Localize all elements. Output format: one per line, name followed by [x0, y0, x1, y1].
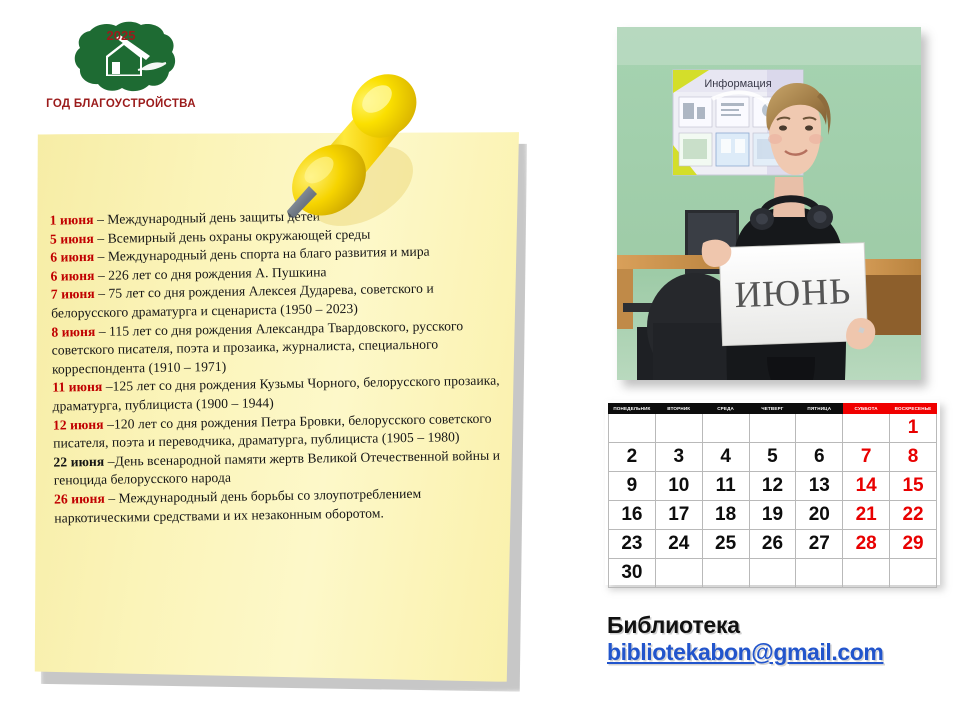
- calendar-week-row: 30: [609, 559, 937, 588]
- calendar-day[interactable]: 1: [890, 414, 937, 443]
- calendar-day-empty: [890, 559, 937, 588]
- calendar-day-empty: [702, 559, 749, 588]
- calendar-day[interactable]: 26: [749, 530, 796, 559]
- note-entry-date: 7 июня: [51, 286, 95, 302]
- note-entry-date: 1 июня: [50, 212, 94, 228]
- calendar-day[interactable]: 24: [655, 530, 702, 559]
- calendar-day[interactable]: 2: [609, 443, 656, 472]
- calendar-day[interactable]: 29: [890, 530, 937, 559]
- calendar-day[interactable]: 11: [702, 472, 749, 501]
- calendar-weekday-2: ВТОРНИК: [655, 404, 702, 414]
- logo-caption: ГОД БЛАГОУСТРОЙСТВА: [46, 98, 196, 110]
- note-entry-date: 11 июня: [52, 379, 102, 395]
- calendar-day[interactable]: 22: [890, 501, 937, 530]
- calendar-day[interactable]: 10: [655, 472, 702, 501]
- note-entry-text: – 75 лет со дня рождения Алексея Дударев…: [51, 281, 434, 321]
- note-entry-text: –День всенародной памяти жертв Великой О…: [54, 447, 500, 488]
- note-entry: 8 июня – 115 лет со дня рождения Алексан…: [51, 316, 512, 379]
- calendar-day-empty: [796, 414, 843, 443]
- calendar-week-row: 9101112131415: [609, 472, 937, 501]
- pushpin: [265, 58, 440, 243]
- calendar-day[interactable]: 8: [890, 443, 937, 472]
- calendar-week-row: 2345678: [609, 443, 937, 472]
- calendar-day[interactable]: 27: [796, 530, 843, 559]
- note-entry: 26 июня – Международный день борьбы со з…: [54, 483, 515, 527]
- calendar-week-row: 1: [609, 414, 937, 443]
- calendar-day[interactable]: 13: [796, 472, 843, 501]
- calendar-day[interactable]: 16: [609, 501, 656, 530]
- note-entry-text: – Международный день спорта на благо раз…: [94, 244, 430, 264]
- photo-content: Информация: [617, 27, 921, 380]
- calendar-day[interactable]: 17: [655, 501, 702, 530]
- note-entry-text: –120 лет со дня рождения Петра Бровки, б…: [53, 410, 492, 450]
- note-entry-text: – Международный день борьбы со злоупотре…: [54, 486, 421, 525]
- calendar-day[interactable]: 25: [702, 530, 749, 559]
- calendar-weekday-1: ПОНЕДЕЛЬНИК: [609, 404, 656, 414]
- calendar-day-empty: [609, 414, 656, 443]
- calendar-day[interactable]: 3: [655, 443, 702, 472]
- calendar-day[interactable]: 7: [843, 443, 890, 472]
- year-of-improvement-logo: 2025 ГОД БЛАГОУСТРОЙСТВА: [46, 12, 196, 117]
- board-title: Информация: [704, 78, 771, 90]
- calendar-day-empty: [749, 414, 796, 443]
- note-entry-text: –125 лет со дня рождения Кузьмы Чорного,…: [52, 373, 499, 414]
- note-entry-date: 12 июня: [53, 416, 104, 432]
- calendar-day[interactable]: 30: [609, 559, 656, 588]
- calendar-week-row: 16171819202122: [609, 501, 937, 530]
- calendar-weekday-3: СРЕДА: [702, 404, 749, 414]
- calendar-day[interactable]: 18: [702, 501, 749, 530]
- note-entry-text: – 226 лет со дня рождения А. Пушкина: [94, 264, 326, 283]
- poster-canvas: 2025 ГОД БЛАГОУСТРОЙСТВА 1 июня – Междун…: [0, 0, 960, 720]
- calendar-grid: ПОНЕДЕЛЬНИКВТОРНИКСРЕДАЧЕТВЕРГПЯТНИЦАСУБ…: [608, 403, 937, 588]
- june-calendar: ПОНЕДЕЛЬНИКВТОРНИКСРЕДАЧЕТВЕРГПЯТНИЦАСУБ…: [605, 400, 940, 585]
- calendar-day-empty: [702, 414, 749, 443]
- calendar-body: 1234567891011121314151617181920212223242…: [609, 414, 937, 588]
- library-photo: Информация: [617, 27, 921, 380]
- calendar-day-empty: [843, 559, 890, 588]
- calendar-header-row: ПОНЕДЕЛЬНИКВТОРНИКСРЕДАЧЕТВЕРГПЯТНИЦАСУБ…: [609, 404, 937, 414]
- calendar-day[interactable]: 23: [609, 530, 656, 559]
- logo-year: 2025: [107, 28, 136, 43]
- calendar-day[interactable]: 14: [843, 472, 890, 501]
- note-entry-date: 6 июня: [50, 249, 94, 265]
- calendar-week-row: 23242526272829: [609, 530, 937, 559]
- calendar-day-empty: [655, 559, 702, 588]
- calendar-weekday-7: ВОСКРЕСЕНЬЕ: [890, 404, 937, 414]
- library-email-link[interactable]: bibliotekabon@gmail.com: [607, 638, 883, 666]
- calendar-day[interactable]: 9: [609, 472, 656, 501]
- calendar-day-empty: [796, 559, 843, 588]
- note-entry-date: 22 июня: [53, 454, 104, 470]
- calendar-weekday-6: СУББОТА: [843, 404, 890, 414]
- calendar-day[interactable]: 4: [702, 443, 749, 472]
- calendar-day[interactable]: 6: [796, 443, 843, 472]
- footer-contact: Библиотека bibliotekabon@gmail.com: [607, 612, 947, 666]
- note-entry-text: – 115 лет со дня рождения Александра Тва…: [52, 318, 464, 377]
- note-entry-date: 26 июня: [54, 491, 105, 507]
- calendar-day-empty: [749, 559, 796, 588]
- library-label: Библиотека: [607, 612, 947, 638]
- calendar-day[interactable]: 12: [749, 472, 796, 501]
- calendar-weekday-4: ЧЕТВЕРГ: [749, 404, 796, 414]
- calendar-day[interactable]: 20: [796, 501, 843, 530]
- calendar-day[interactable]: 19: [749, 501, 796, 530]
- note-entry-date: 6 июня: [50, 268, 94, 284]
- note-events-list: 1 июня – Международный день защиты детей…: [50, 204, 515, 527]
- pushpin-icon: [265, 58, 440, 243]
- calendar-day[interactable]: 21: [843, 501, 890, 530]
- calendar-weekday-5: ПЯТНИЦА: [796, 404, 843, 414]
- note-entry-date: 5 июня: [50, 231, 94, 247]
- calendar-day-empty: [655, 414, 702, 443]
- calendar-day[interactable]: 5: [749, 443, 796, 472]
- belarus-map-house-icon: 2025: [46, 12, 196, 102]
- calendar-day-empty: [843, 414, 890, 443]
- calendar-day[interactable]: 15: [890, 472, 937, 501]
- calendar-day[interactable]: 28: [843, 530, 890, 559]
- sign-text: ИЮНЬ: [734, 271, 852, 316]
- note-entry-date: 8 июня: [51, 323, 95, 339]
